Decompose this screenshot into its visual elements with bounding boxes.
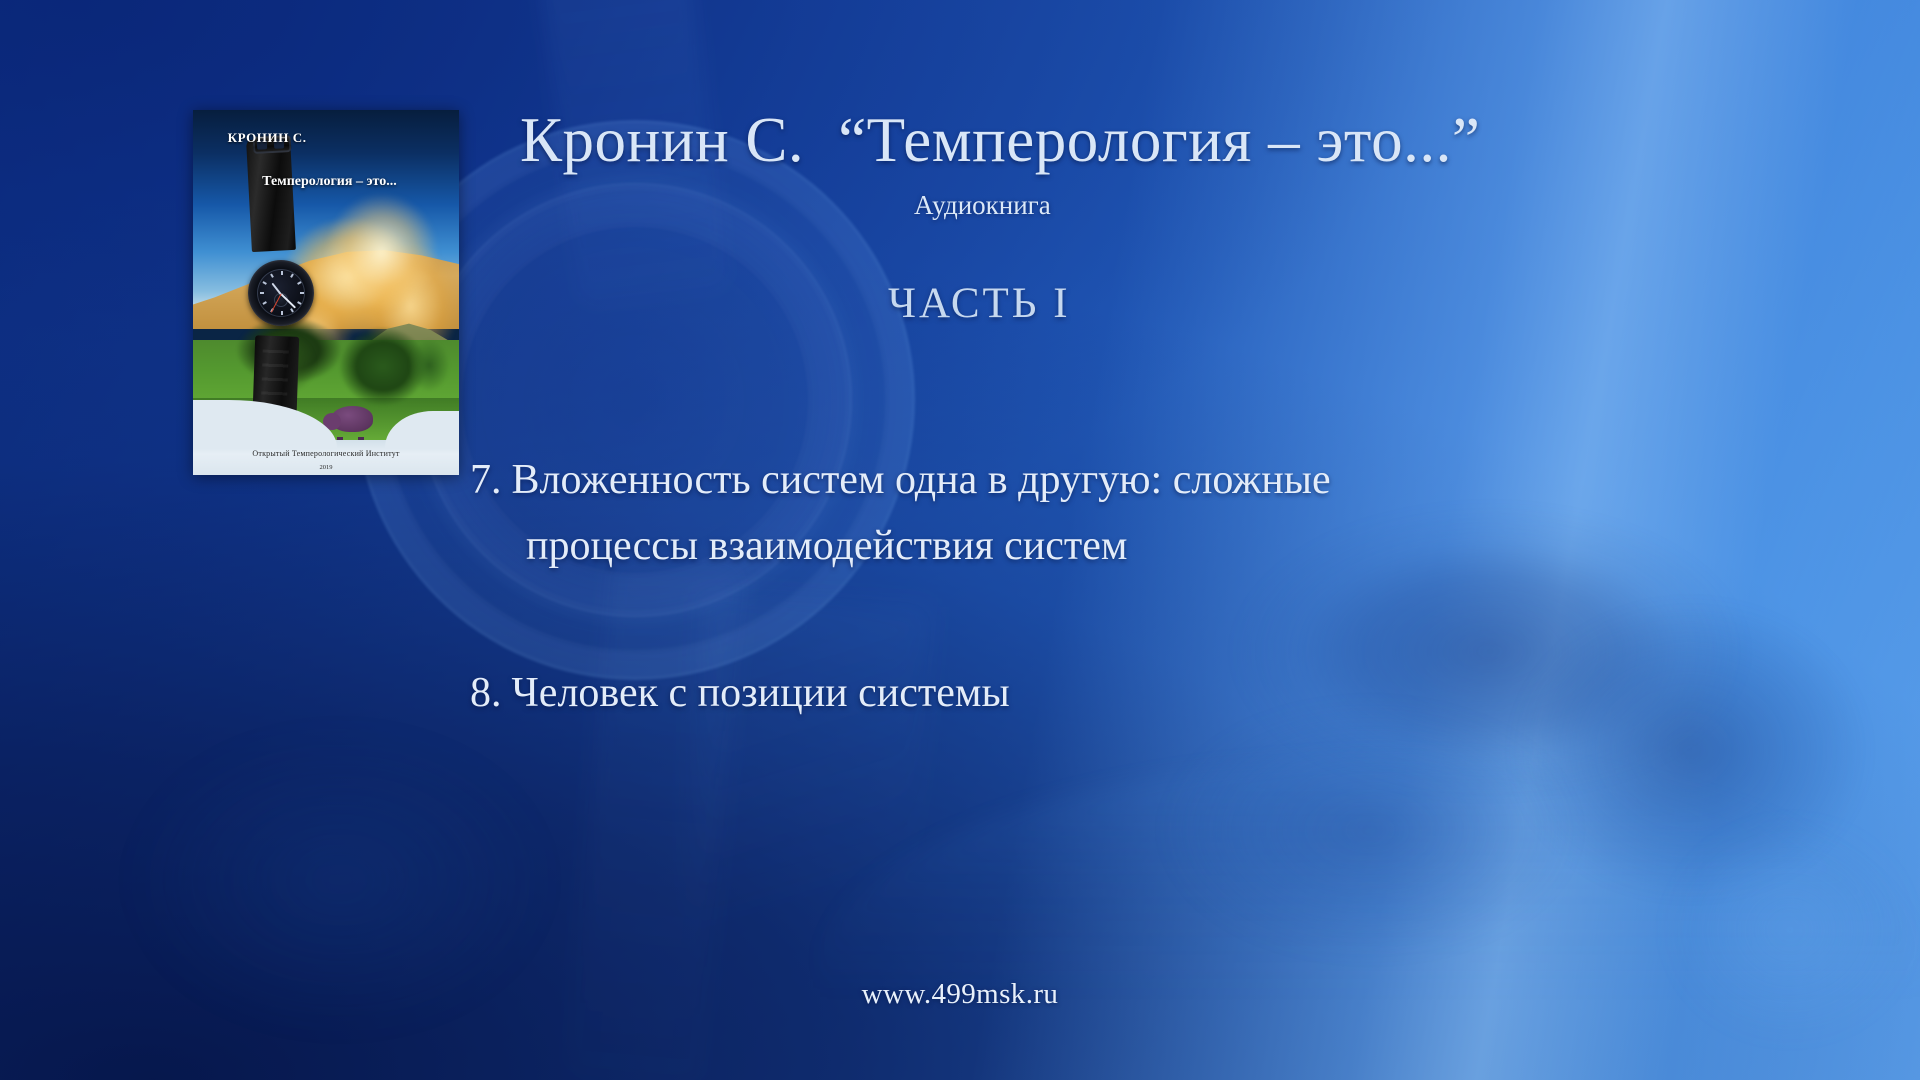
footer-website-url: www.499msk.ru — [0, 978, 1920, 1011]
cover-tree-far-right — [406, 329, 459, 395]
cover-watch-tick — [297, 281, 301, 285]
list-item: 8.Человек с позиции системы — [470, 661, 1700, 727]
cover-publisher: Открытый Темперологический Институт — [193, 449, 459, 458]
background-glow-right — [1620, 780, 1920, 1080]
list-item: 7.Вложенность систем одна в другую: слож… — [470, 448, 1700, 579]
slide-part-label: ЧАСТЬ I — [888, 279, 1071, 328]
cover-watch-tick — [297, 301, 301, 305]
cover-watch-tick — [281, 311, 283, 315]
cover-watch-strap-upper — [246, 138, 296, 252]
cover-watch-tick — [300, 292, 304, 294]
list-item-number: 7. — [470, 448, 502, 514]
slide-subtitle: Аудиокнига — [914, 190, 1051, 221]
list-item-text: Человек с позиции системы — [512, 670, 1010, 716]
cover-watch-tick — [260, 292, 264, 294]
list-item-text-continued: процессы взаимодействия систем — [526, 514, 1700, 580]
cover-watch-face — [257, 269, 305, 317]
list-item-number: 8. — [470, 661, 502, 727]
cover-year: 2019 — [193, 464, 459, 471]
cover-author-name: КРОНИН С. — [228, 130, 307, 146]
book-cover-image: КРОНИН С. Темперология – это... Открытый… — [193, 110, 459, 475]
cover-watch-tick — [270, 273, 274, 277]
cover-watch-tick — [262, 281, 266, 285]
headline-author: Кронин С. — [520, 105, 804, 175]
background-tree-silhouette-3 — [1160, 700, 1580, 960]
cover-watch-tick — [290, 308, 294, 312]
cover-watch-tick — [262, 301, 266, 305]
headline-title: “Темперология – это...” — [838, 105, 1480, 175]
cover-watch-tick — [281, 271, 283, 275]
background-glow-left — [60, 680, 620, 1080]
presentation-slide: КРОНИН С. Темперология – это... Открытый… — [0, 0, 1920, 1080]
cover-watch-tick — [290, 273, 294, 277]
list-spacer — [470, 579, 1700, 661]
background-hill-silhouette — [820, 760, 1920, 1000]
cover-wristwatch-icon — [248, 260, 314, 326]
cover-book-title: Темперология – это... — [262, 174, 397, 190]
list-item-text: Вложенность систем одна в другую: сложны… — [512, 457, 1331, 503]
slide-headline: Кронин С.“Темперология – это...” — [520, 104, 1480, 177]
slide-topic-list: 7.Вложенность систем одна в другую: слож… — [470, 448, 1700, 727]
